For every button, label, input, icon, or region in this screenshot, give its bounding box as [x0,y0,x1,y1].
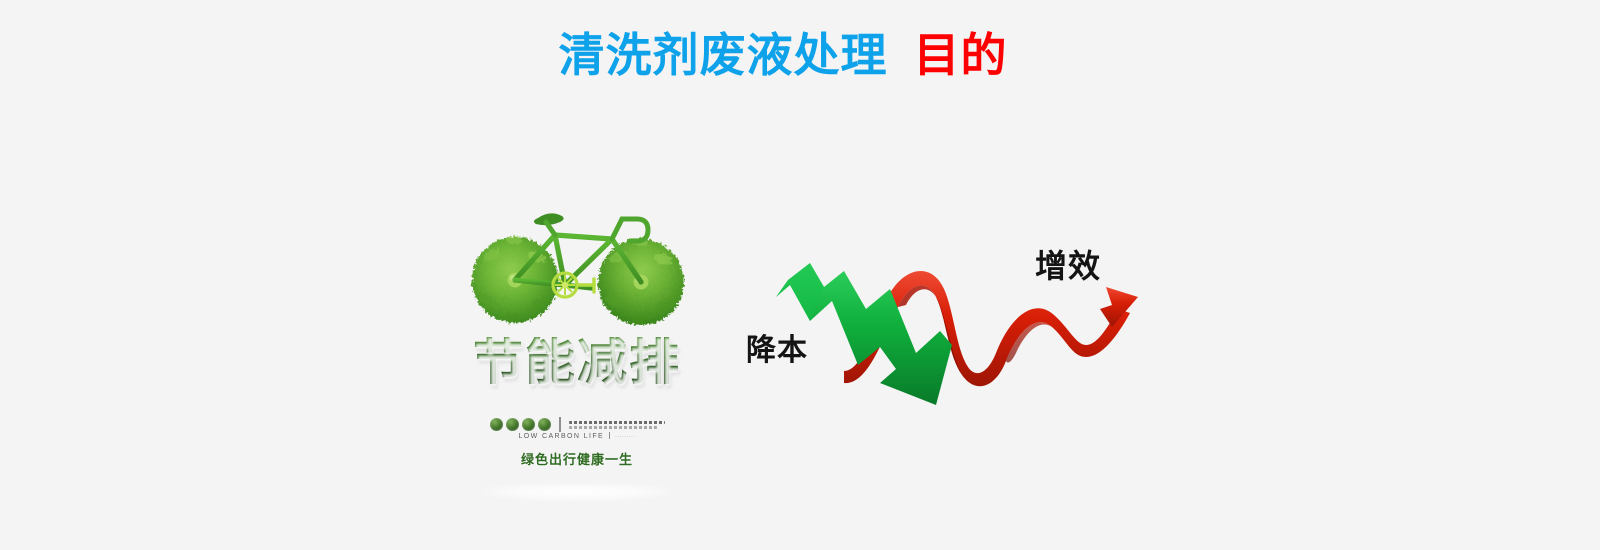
bicycle-illustration [452,185,702,335]
page-title-inner: 清洗剂废液处理目的 [559,32,1008,78]
eco-bicycle-poster: 节能减排 LOW CARBON LIFE········· 绿色出行健康一生 [452,185,702,485]
leaf-badge-icon [490,418,503,431]
bicycle-handlebar [612,219,648,241]
efficiency-up-label: 增效 [1035,250,1101,282]
cost-down-efficiency-up-arrows [740,235,1170,415]
leaf-badge-icon [522,418,535,431]
poster-headline: 节能减排 [452,337,702,387]
divider [559,417,561,432]
cost-down-label: 降本 [746,336,808,366]
leaf-badge-icon [538,418,551,431]
bicycle-seat [534,213,564,235]
bicycle-icon [452,185,702,335]
page-title-accent: 目的 [914,28,1008,82]
slide-canvas: 清洗剂废液处理目的 [0,0,1600,550]
leaf-badge-icon [506,418,519,431]
poster-tagline: 绿色出行健康一生 [452,449,702,468]
bicycle-chainring [553,273,594,297]
poster-badge-row [452,417,702,432]
poster-sub-label-en: LOW CARBON LIFE [519,433,605,440]
page-title: 清洗剂废液处理目的 [0,32,1600,78]
poster-sub-label: LOW CARBON LIFE········· [452,432,702,440]
poster-reflection [482,485,672,501]
page-title-main: 清洗剂废液处理 [559,28,888,82]
poster-microtext [569,421,665,429]
arrows-illustration [740,235,1170,415]
